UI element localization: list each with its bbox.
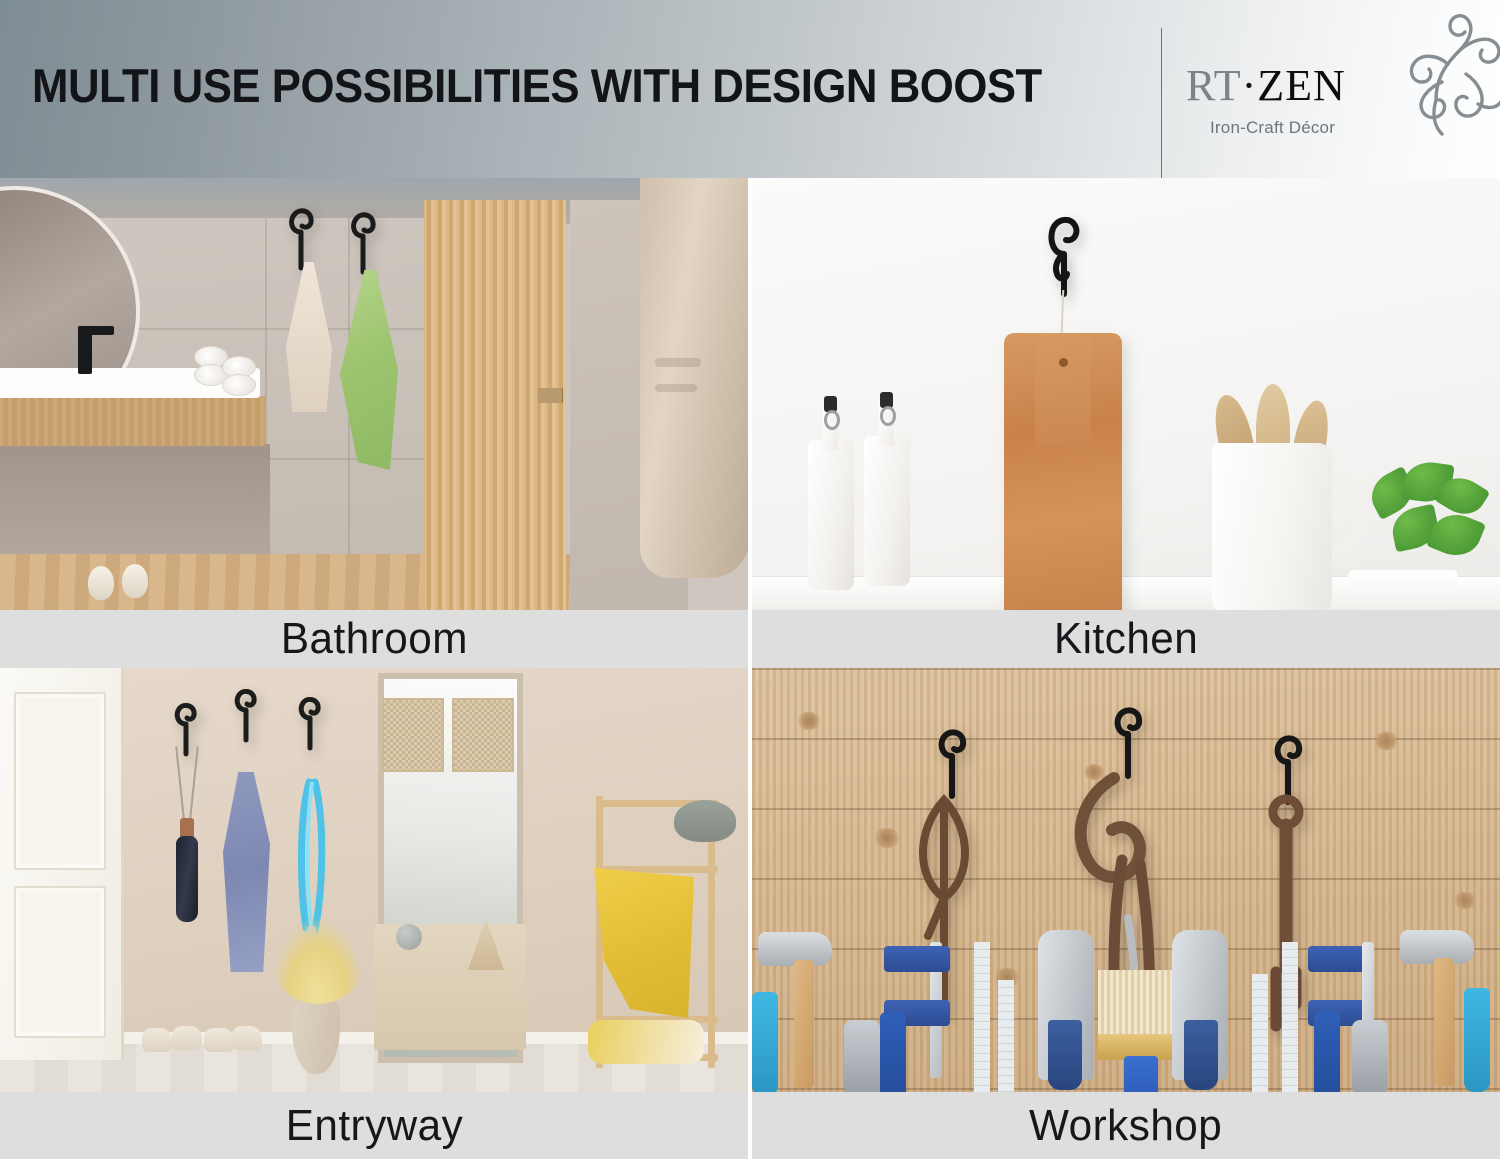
s-hook-icon <box>1044 196 1084 298</box>
s-hook-icon <box>286 198 316 272</box>
kitchen-oil-bottle <box>864 436 910 586</box>
bathroom-robe <box>640 178 748 578</box>
entryway-pillow <box>588 1020 704 1064</box>
s-hook-icon <box>348 202 378 276</box>
s-hook-icon <box>232 682 260 744</box>
s-hook-icon <box>296 690 324 752</box>
workshop-tool-row <box>752 924 1500 1092</box>
bathroom-door <box>424 200 566 610</box>
entryway-scarf <box>222 772 270 972</box>
caption-label: Bathroom <box>281 614 468 664</box>
panel-image-entryway <box>0 668 748 1092</box>
caption-bathroom: Bathroom <box>0 610 748 668</box>
caption-label: Workshop <box>1029 1101 1222 1151</box>
entryway-hat <box>674 800 736 842</box>
page-title: MULTI USE POSSIBILITIES WITH DESIGN BOOS… <box>32 58 1042 113</box>
kitchen-oil-bottle <box>808 440 854 590</box>
panel-image-workshop <box>752 668 1500 1092</box>
entryway-wheat <box>272 918 364 1004</box>
brand-logo: RT·ZEN Iron-Craft Décor <box>1186 46 1486 156</box>
workshop-pliers <box>844 1020 880 1092</box>
header-banner: MULTI USE POSSIBILITIES WITH DESIGN BOOS… <box>0 0 1500 178</box>
caption-label: Entryway <box>285 1101 463 1151</box>
caption-workshop: Workshop <box>752 1092 1500 1159</box>
entryway-umbrella <box>176 836 198 922</box>
brand-name: RT·ZEN <box>1186 60 1346 111</box>
filigree-scroll-icon <box>1382 4 1500 139</box>
brand-name-part1: RT <box>1186 61 1242 110</box>
header-divider <box>1161 28 1162 178</box>
panel-grid: Bathroom Kitchen <box>0 178 1500 1159</box>
caption-label: Kitchen <box>1054 614 1198 664</box>
kitchen-pitcher <box>1212 443 1332 610</box>
infographic-page: MULTI USE POSSIBILITIES WITH DESIGN BOOS… <box>0 0 1500 1159</box>
panel-image-bathroom <box>0 178 748 610</box>
brand-name-part2: ZEN <box>1257 61 1346 110</box>
brand-name-separator: · <box>1242 61 1258 110</box>
kitchen-mortar-bowl <box>1348 570 1458 610</box>
caption-entryway: Entryway <box>0 1092 748 1159</box>
brand-tagline: Iron-Craft Décor <box>1210 118 1335 138</box>
workshop-clamp <box>884 946 950 972</box>
caption-kitchen: Kitchen <box>752 610 1500 668</box>
panel-image-kitchen <box>752 178 1500 610</box>
